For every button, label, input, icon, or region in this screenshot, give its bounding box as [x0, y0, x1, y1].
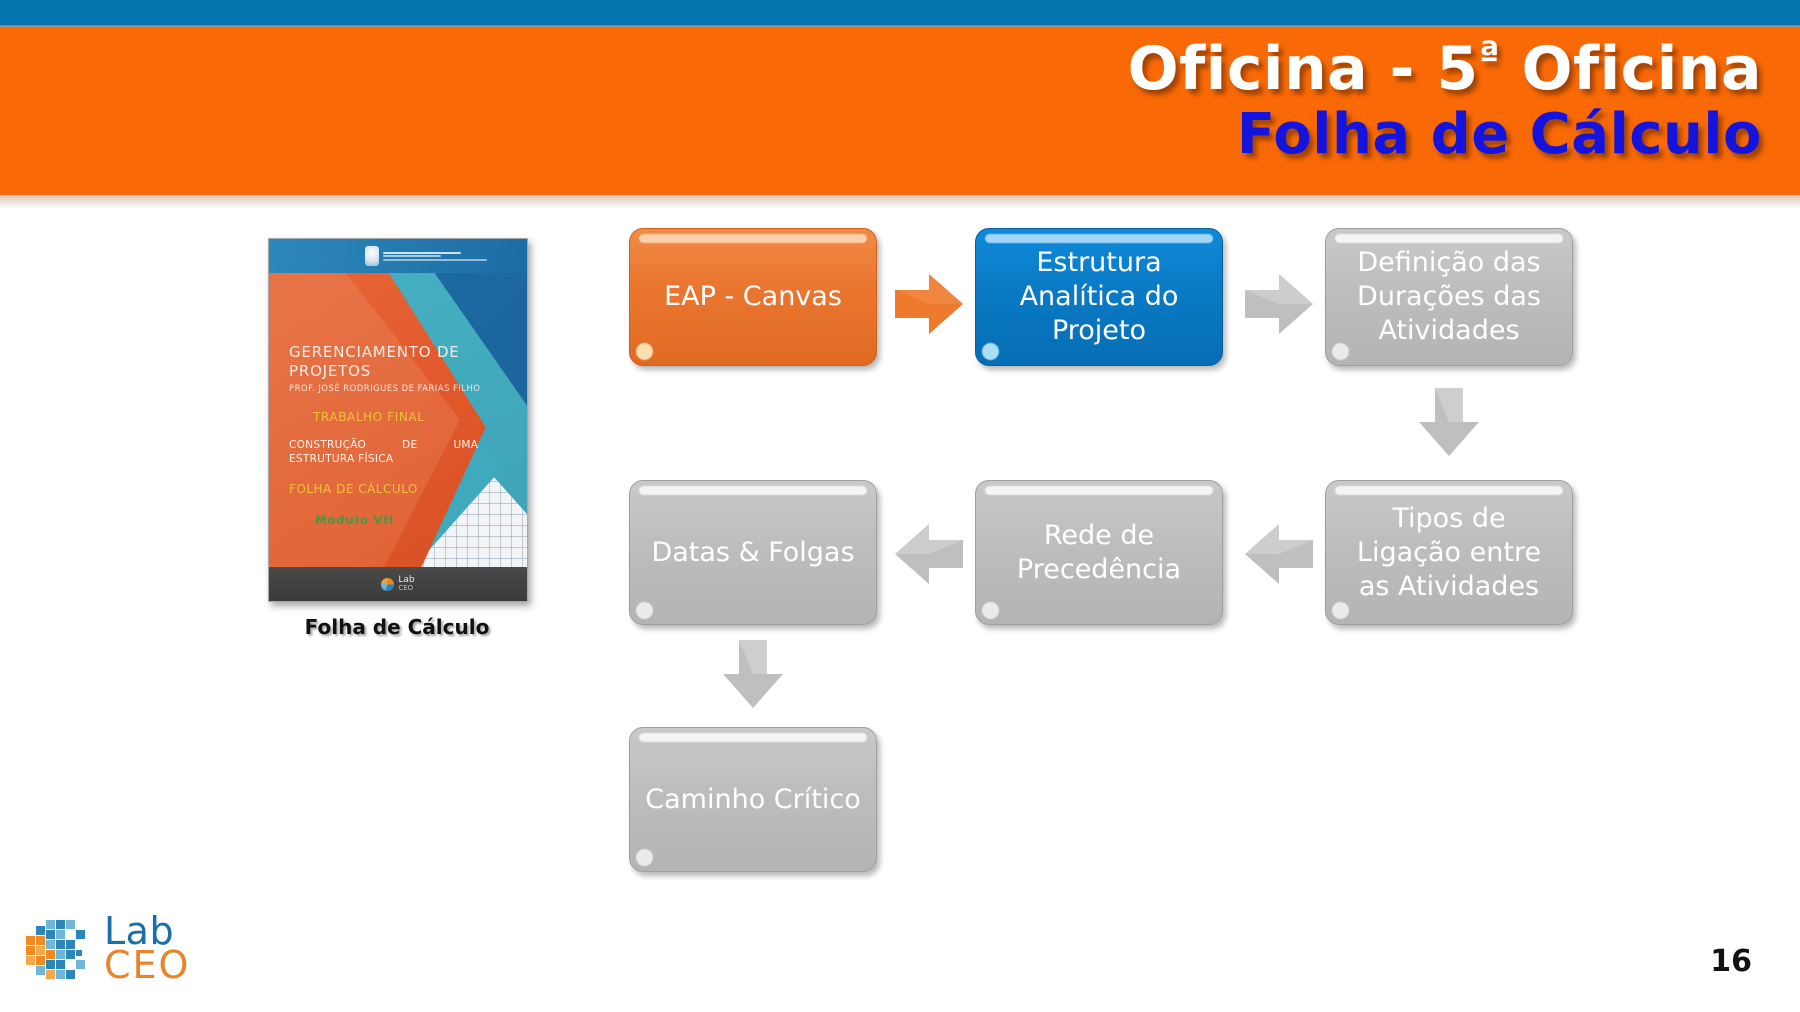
labceo-ceo-text: CEO	[104, 948, 190, 982]
flow-node-label: Definição das Durações das Atividades	[1340, 246, 1558, 348]
flow-node-tipos-ligacao[interactable]: Tipos de Ligação entre as Atividades	[1325, 480, 1573, 625]
arrow-eap-to-duracoes	[1243, 268, 1315, 340]
arrow-tipos-to-rede	[1243, 518, 1315, 590]
page-title-text: Oficina - 5	[1128, 34, 1479, 104]
flow-node-label: EAP - Canvas	[664, 280, 842, 314]
flow-node-label: Tipos de Ligação entre as Atividades	[1340, 502, 1558, 604]
page-subtitle: Folha de Cálculo	[1128, 104, 1762, 166]
flow-node-label: Caminho Crítico	[645, 783, 860, 817]
labceo-wordmark: Lab CEO	[104, 914, 190, 982]
flow-node-definicao-duracoes[interactable]: Definição das Durações das Atividades	[1325, 228, 1573, 366]
flow-node-label: Rede de Precedência	[990, 519, 1208, 587]
header-title-group: Oficina - 5ª Oficina Folha de Cálculo	[1128, 36, 1762, 166]
arrow-rede-to-datas	[893, 518, 965, 590]
flow-node-label: Estrutura Analítica do Projeto	[990, 246, 1208, 348]
arrow-duracoes-to-tipos	[1413, 386, 1485, 458]
labceo-logo: Lab CEO	[22, 912, 207, 994]
arrow-eapcanvas-to-eap	[893, 268, 965, 340]
page-title-tail: Oficina	[1500, 34, 1762, 104]
page-title: Oficina - 5ª Oficina	[1128, 36, 1762, 102]
flow-node-estrutura-analitica[interactable]: Estrutura Analítica do Projeto	[975, 228, 1223, 366]
labceo-globe-icon	[22, 916, 98, 990]
flow-node-eap-canvas[interactable]: EAP - Canvas	[629, 228, 877, 366]
page-title-ordinal: ª	[1479, 33, 1500, 77]
flow-node-caminho-critico[interactable]: Caminho Crítico	[629, 727, 877, 872]
page-number: 16	[1710, 944, 1752, 979]
arrow-datas-to-caminho	[717, 638, 789, 710]
flow-node-rede-precedencia[interactable]: Rede de Precedência	[975, 480, 1223, 625]
flow-node-datas-folgas[interactable]: Datas & Folgas	[629, 480, 877, 625]
flow-node-label: Datas & Folgas	[651, 536, 854, 570]
slide: Oficina - 5ª Oficina Folha de Cálculo GE…	[0, 0, 1800, 1012]
